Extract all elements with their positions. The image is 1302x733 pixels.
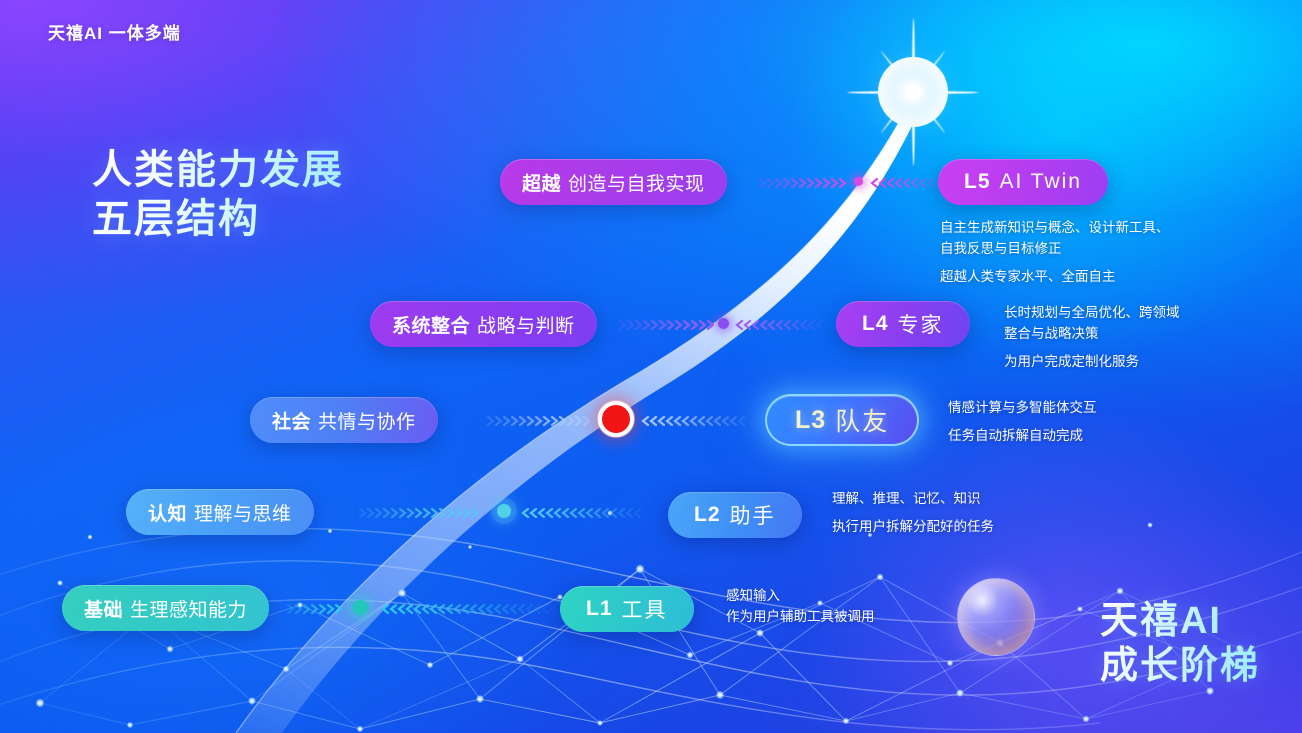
capability-pill-l3[interactable]: 社会 共情与协作	[250, 397, 438, 443]
level-description-l5: 自主生成新知识与概念、设计新工具、 自我反思与目标修正 超越人类专家水平、全面自…	[940, 218, 1170, 288]
connector-arrows-l2	[358, 504, 484, 522]
desc-line1-l3: 情感计算与多智能体交互	[948, 398, 1097, 419]
capability-light-l5: 创造与自我实现	[568, 169, 705, 196]
capability-pill-l2[interactable]: 认知 理解与思维	[126, 489, 314, 535]
level-code-l1: L1	[586, 597, 613, 621]
level-code-l3: L3	[795, 406, 826, 435]
brand-footer-line1: 天禧AI	[1100, 599, 1260, 644]
capability-pill-l5[interactable]: 超越 创造与自我实现	[500, 159, 727, 205]
infographic-canvas: 天禧AI 一体多端 人类能力发展 五层结构 超越 创造与自我实现	[0, 0, 1302, 733]
level-pill-l5[interactable]: L5 AI Twin	[938, 159, 1108, 205]
capability-light-l4: 战略与判断	[477, 311, 575, 338]
brand-orb-icon	[957, 578, 1035, 656]
connector-arrows-l3-right	[640, 412, 750, 430]
capability-strong-l5: 超越	[522, 169, 561, 196]
brand-footer: 天禧AI 成长阶梯	[1100, 599, 1260, 689]
capability-light-l3: 共情与协作	[318, 407, 416, 434]
capability-strong-l2: 认知	[148, 499, 187, 526]
desc-line3-l5: 超越人类专家水平、全面自主	[940, 267, 1170, 288]
curve-node-l3-marker	[598, 401, 634, 437]
connector-arrows-l2-right	[520, 504, 650, 522]
level-name-l4: 专家	[898, 309, 944, 339]
level-code-l2: L2	[694, 503, 721, 527]
bottom-left-glow	[0, 263, 700, 733]
level-pill-l4[interactable]: L4 专家	[836, 301, 970, 347]
desc-line3-l4: 为用户完成定制化服务	[1004, 352, 1180, 373]
desc-line2-l5: 自我反思与目标修正	[940, 239, 1170, 260]
curve-node-l2	[497, 504, 511, 518]
connector-arrows-l3	[486, 412, 594, 430]
level-description-l2: 理解、推理、记忆、知识 执行用户拆解分配好的任务	[832, 489, 994, 538]
capability-strong-l1: 基础	[84, 595, 123, 622]
page-title: 人类能力发展 五层结构	[92, 146, 344, 244]
desc-line2-l4: 整合与战略决策	[1004, 324, 1180, 345]
level-pill-l3[interactable]: L3 队友	[765, 394, 919, 446]
capability-light-l1: 生理感知能力	[130, 595, 247, 622]
level-name-l3: 队友	[835, 402, 889, 438]
level-pill-l1[interactable]: L1 工具	[560, 586, 694, 632]
desc-line2-l2: 执行用户拆解分配好的任务	[832, 517, 994, 538]
level-description-l1: 感知输入 作为用户辅助工具被调用	[726, 586, 875, 628]
desc-line1-l1: 感知输入	[726, 586, 875, 607]
brand-header: 天禧AI 一体多端	[48, 19, 181, 44]
desc-line1-l4: 长时规划与全局优化、跨领域	[1004, 303, 1180, 324]
capability-light-l2: 理解与思维	[194, 499, 292, 526]
level-code-l5: L5	[964, 170, 991, 194]
capability-strong-l4: 系统整合	[392, 311, 470, 338]
curve-node-l4	[718, 318, 729, 329]
level-description-l3: 情感计算与多智能体交互 任务自动拆解自动完成	[948, 398, 1097, 447]
brand-footer-line2: 成长阶梯	[1100, 644, 1260, 689]
desc-line1-l5: 自主生成新知识与概念、设计新工具、	[940, 218, 1170, 239]
capability-strong-l3: 社会	[272, 407, 311, 434]
connector-arrows-l5-right	[869, 174, 941, 192]
level-code-l4: L4	[862, 312, 889, 336]
desc-line2-l3: 任务自动拆解自动完成	[948, 426, 1097, 447]
connector-arrows-l1-right	[380, 600, 566, 618]
capability-pill-l4[interactable]: 系统整合 战略与判断	[370, 301, 597, 347]
desc-line1-l2: 理解、推理、记忆、知识	[832, 489, 994, 510]
connector-arrows-l4-right	[734, 316, 822, 334]
level-name-l1: 工具	[622, 594, 668, 624]
curve-node-l1	[353, 600, 368, 615]
curve-node-l5	[854, 177, 863, 186]
desc-line2-l1: 作为用户辅助工具被调用	[726, 607, 875, 628]
level-name-l5: AI Twin	[1000, 170, 1082, 194]
connector-arrows-l1	[286, 600, 346, 618]
capability-pill-l1[interactable]: 基础 生理感知能力	[62, 585, 269, 631]
connector-arrows-l5	[758, 174, 850, 192]
level-pill-l2[interactable]: L2 助手	[668, 492, 802, 538]
level-description-l4: 长时规划与全局优化、跨领域 整合与战略决策 为用户完成定制化服务	[1004, 303, 1180, 373]
page-title-line2: 五层结构	[92, 195, 344, 244]
connector-arrows-l4	[618, 316, 714, 334]
page-title-line1: 人类能力发展	[92, 146, 344, 195]
level-name-l2: 助手	[730, 500, 776, 530]
